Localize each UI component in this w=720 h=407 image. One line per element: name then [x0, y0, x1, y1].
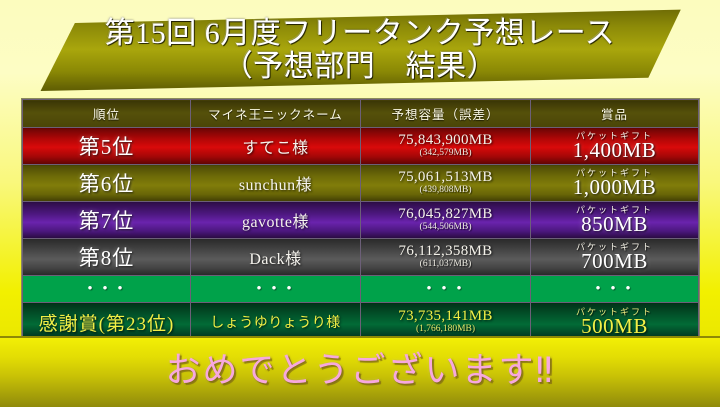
cell-prize: パケットギフト 700MB — [531, 239, 699, 276]
column-header-rank: 順位 — [23, 100, 191, 128]
capacity-error: (1,766,180MB) — [361, 325, 530, 335]
prize-value: 700MB — [531, 251, 698, 272]
title-line-1: 第15回 6月度フリータンク予想レース — [105, 18, 616, 50]
cell-prize: パケットギフト 850MB — [531, 202, 699, 239]
table-row-ellipsis: • • • • • • • • • • • • — [23, 276, 699, 303]
cell-rank: 第5位 — [23, 128, 191, 165]
capacity-error: (439,808MB) — [361, 186, 530, 196]
cell-rank: 第7位 — [23, 202, 191, 239]
capacity-value: 73,735,141MB — [361, 309, 530, 324]
cell-capacity: 76,045,827MB (544,506MB) — [361, 202, 531, 239]
title-banner: 第15回 6月度フリータンク予想レース （予想部門 結果） — [36, 10, 684, 94]
cell-prize: パケットギフト 1,400MB — [531, 128, 699, 165]
table-row: 第8位 Dack様 76,112,358MB (611,037MB) パケットギ… — [23, 239, 699, 276]
column-header-prize: 賞品 — [531, 100, 699, 128]
ellipsis-dots: • • • — [595, 282, 633, 297]
congratulations-banner: おめでとうございます‼ — [0, 336, 720, 407]
prize-value: 500MB — [531, 316, 698, 337]
capacity-error: (342,579MB) — [361, 149, 530, 159]
table-row: 第6位 sunchun様 75,061,513MB (439,808MB) パケ… — [23, 165, 699, 202]
congratulations-message: おめでとうございます‼ — [166, 342, 555, 393]
capacity-value: 75,061,513MB — [361, 170, 530, 185]
ellipsis-dots: • • • — [87, 282, 125, 297]
cell-nickname: sunchun様 — [191, 165, 361, 202]
cell-capacity: 75,061,513MB (439,808MB) — [361, 165, 531, 202]
column-header-capacity: 予想容量（誤差） — [361, 100, 531, 128]
table-row: 第7位 gavotte様 76,045,827MB (544,506MB) パケ… — [23, 202, 699, 239]
cell-nickname: すてこ様 — [191, 128, 361, 165]
column-header-nickname: マイネ王ニックネーム — [191, 100, 361, 128]
table-row: 第5位 すてこ様 75,843,900MB (342,579MB) パケットギフ… — [23, 128, 699, 165]
ellipsis-dots: • • • — [426, 282, 464, 297]
cell-rank-ellipsis: • • • — [23, 276, 191, 303]
table-header-row: 順位 マイネ王ニックネーム 予想容量（誤差） 賞品 — [23, 100, 699, 128]
results-table: 順位 マイネ王ニックネーム 予想容量（誤差） 賞品 第5位 すてこ様 75,84… — [22, 99, 699, 342]
slide-canvas: 第15回 6月度フリータンク予想レース （予想部門 結果） 順位 マイネ王ニック… — [0, 0, 720, 405]
title-line-2: （予想部門 結果） — [223, 51, 498, 83]
capacity-value: 75,843,900MB — [361, 133, 530, 148]
capacity-error: (544,506MB) — [361, 223, 530, 233]
capacity-value: 76,045,827MB — [361, 207, 530, 222]
capacity-value: 76,112,358MB — [361, 244, 530, 259]
cell-rank: 第6位 — [23, 165, 191, 202]
prize-value: 1,400MB — [531, 140, 698, 161]
cell-nickname-ellipsis: • • • — [191, 276, 361, 303]
cell-prize-ellipsis: • • • — [531, 276, 699, 303]
cell-capacity-ellipsis: • • • — [361, 276, 531, 303]
cell-nickname: gavotte様 — [191, 202, 361, 239]
capacity-error: (611,037MB) — [361, 260, 530, 270]
ellipsis-dots: • • • — [256, 282, 294, 297]
prize-value: 1,000MB — [531, 177, 698, 198]
cell-prize: パケットギフト 1,000MB — [531, 165, 699, 202]
cell-capacity: 75,843,900MB (342,579MB) — [361, 128, 531, 165]
cell-rank: 第8位 — [23, 239, 191, 276]
prize-value: 850MB — [531, 214, 698, 235]
cell-nickname: Dack様 — [191, 239, 361, 276]
cell-capacity: 76,112,358MB (611,037MB) — [361, 239, 531, 276]
